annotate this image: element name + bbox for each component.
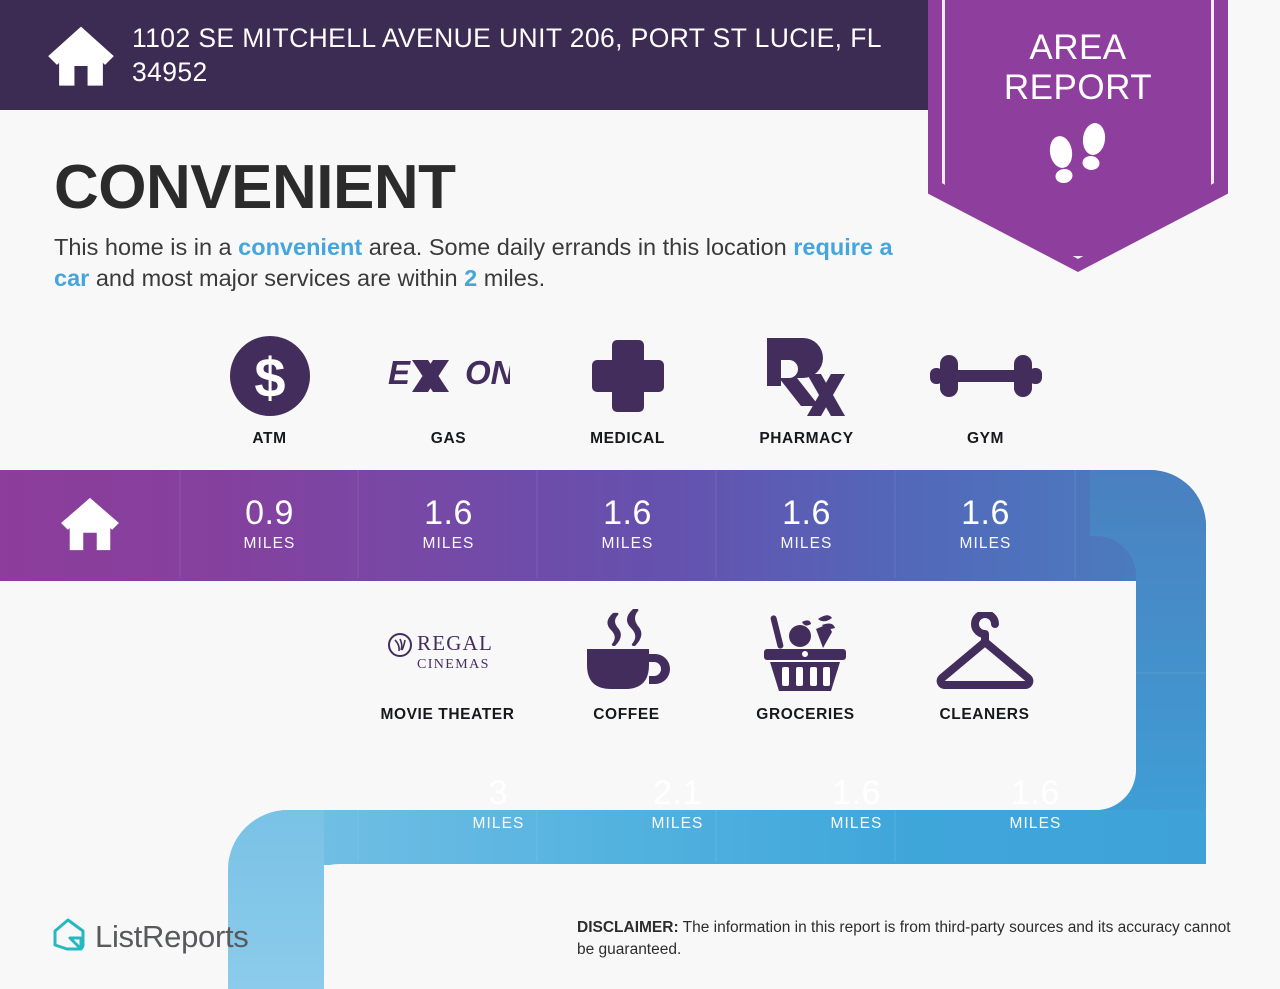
distance-unit: MILES	[243, 535, 295, 553]
amenity-icon-row-1: $ ATM E ON GAS	[180, 336, 1255, 448]
amenity-medical: MEDICAL	[538, 336, 717, 448]
summary-text: This home is in a convenient area. Some …	[54, 232, 914, 295]
home-marker-cell	[0, 470, 180, 578]
amenity-atm: $ ATM	[180, 336, 359, 448]
exxon-logo-icon: E ON	[388, 336, 510, 416]
ribbon-spacer-cell	[230, 750, 409, 858]
amenity-coffee: COFFEE	[537, 612, 716, 724]
regal-cinemas-logo-icon: REGAL CINEMAS	[384, 612, 512, 692]
listreports-logo-text: ListReports	[95, 919, 249, 955]
distance-unit: MILES	[780, 535, 832, 553]
distance-unit: MILES	[1009, 815, 1061, 833]
distance-value: 1.6	[961, 496, 1010, 530]
home-icon	[59, 496, 121, 552]
summary-highlight-miles: 2	[464, 265, 477, 291]
cleaners-hanger-icon	[930, 612, 1040, 692]
distance-unit: MILES	[422, 535, 474, 553]
listreports-house-icon	[52, 918, 86, 956]
amenity-movie-theater: REGAL CINEMAS MOVIE THEATER	[358, 612, 537, 724]
svg-text:E: E	[388, 354, 411, 391]
svg-text:$: $	[254, 346, 285, 409]
summary-part-4: miles.	[477, 265, 545, 291]
page-title: CONVENIENT	[54, 152, 455, 223]
badge-title-line1: AREA	[928, 28, 1228, 68]
summary-part-1: This home is in a	[54, 234, 238, 260]
distance-unit: MILES	[830, 815, 882, 833]
distance-unit: MILES	[601, 535, 653, 553]
distance-value: 1.6	[1011, 776, 1060, 810]
amenity-label: GYM	[967, 430, 1004, 448]
pharmacy-rx-icon	[767, 336, 847, 416]
amenity-cleaners: CLEANERS	[895, 612, 1074, 724]
summary-part-3: and most major services are within	[89, 265, 464, 291]
distance-unit: MILES	[651, 815, 703, 833]
amenity-label: GAS	[431, 430, 466, 448]
area-report-infographic: 1102 SE MITCHELL AVENUE UNIT 206, PORT S…	[0, 0, 1280, 989]
home-icon	[46, 20, 116, 90]
distance-unit: MILES	[959, 535, 1011, 553]
gym-dumbbell-icon	[930, 336, 1042, 416]
amenity-label: ATM	[252, 430, 286, 448]
distance-cell-cleaners: 1.6 MILES	[946, 750, 1125, 858]
distance-cell-gym: 1.6 MILES	[896, 470, 1075, 578]
coffee-cup-icon	[581, 612, 673, 692]
amenity-gym: GYM	[896, 336, 1075, 448]
amenity-label: MOVIE THEATER	[380, 706, 514, 724]
svg-text:CINEMAS: CINEMAS	[417, 657, 490, 672]
summary-part-2: area. Some daily errands in this locatio…	[362, 234, 793, 260]
amenity-label: COFFEE	[593, 706, 659, 724]
disclaimer: DISCLAIMER: The information in this repo…	[577, 917, 1247, 961]
distance-cell-gas: 1.6 MILES	[359, 470, 538, 578]
distance-cell-atm: 0.9 MILES	[180, 470, 359, 578]
amenity-groceries: GROCERIES	[716, 612, 895, 724]
distance-value: 1.6	[603, 496, 652, 530]
distance-cell-pharmacy: 1.6 MILES	[717, 470, 896, 578]
distance-value: 1.6	[424, 496, 473, 530]
distance-cell-coffee: 2.1 MILES	[588, 750, 767, 858]
distance-unit: MILES	[472, 815, 524, 833]
distance-value: 1.6	[782, 496, 831, 530]
distance-value: 3	[489, 776, 508, 810]
distance-cell-medical: 1.6 MILES	[538, 470, 717, 578]
amenity-gas: E ON GAS	[359, 336, 538, 448]
distance-cell-groceries: 1.6 MILES	[767, 750, 946, 858]
disclaimer-label: DISCLAIMER:	[577, 919, 679, 936]
atm-dollar-circle-icon: $	[228, 336, 312, 416]
property-address: 1102 SE MITCHELL AVENUE UNIT 206, PORT S…	[132, 21, 892, 90]
badge-title-line2: REPORT	[928, 68, 1228, 108]
amenity-label: MEDICAL	[590, 430, 665, 448]
distance-value: 1.6	[832, 776, 881, 810]
amenity-label: CLEANERS	[939, 706, 1029, 724]
badge-title: AREA REPORT	[928, 28, 1228, 108]
distance-values-row-2: 3 MILES 2.1 MILES 1.6 MILES 1.6 MILES	[230, 750, 1125, 858]
medical-cross-icon	[588, 336, 668, 416]
amenity-label: PHARMACY	[759, 430, 853, 448]
groceries-basket-icon	[760, 612, 852, 692]
distance-cell-movie-theater: 3 MILES	[409, 750, 588, 858]
summary-highlight-convenient: convenient	[238, 234, 362, 260]
distance-value: 2.1	[653, 776, 702, 810]
distance-value: 0.9	[245, 496, 294, 530]
svg-text:REGAL: REGAL	[417, 631, 493, 655]
area-report-badge: AREA REPORT	[928, 0, 1228, 272]
amenity-icon-row-2: REGAL CINEMAS MOVIE THEATER COFFEE	[358, 612, 1254, 724]
footprints-icon	[928, 120, 1228, 199]
amenity-label: GROCERIES	[756, 706, 854, 724]
distance-values-row-1: 0.9 MILES 1.6 MILES 1.6 MILES 1.6 MILES …	[0, 470, 1075, 578]
svg-text:ON: ON	[465, 354, 510, 391]
amenity-pharmacy: PHARMACY	[717, 336, 896, 448]
listreports-logo: ListReports	[52, 918, 249, 956]
